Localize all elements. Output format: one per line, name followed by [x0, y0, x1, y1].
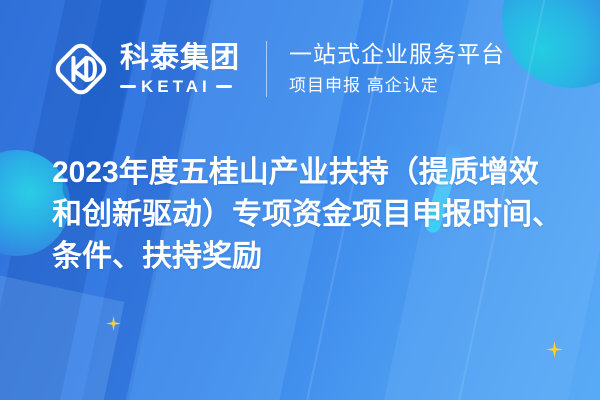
logo-rule-right [216, 85, 232, 88]
ketai-diamond-kd-logo-icon [52, 40, 110, 98]
banner-header: 科泰集团 KETAI 一站式企业服务平台 项目申报 高企认定 [0, 0, 600, 138]
header-divider [266, 41, 267, 97]
logo-wordmark: 科泰集团 KETAI [120, 43, 240, 94]
four-point-star-sparkle-icon-left [106, 316, 121, 331]
slogan-secondary: 项目申报 高企认定 [289, 74, 505, 99]
banner-title-block: 2023年度五桂山产业扶持（提质增效和创新驱动）专项资金项目申报时间、条件、扶持… [52, 152, 568, 278]
brand-lockup: 科泰集团 KETAI [52, 40, 240, 98]
header-slogan: 一站式企业服务平台 项目申报 高企认定 [289, 40, 505, 99]
logo-company-name-en: KETAI [141, 78, 211, 95]
page-title: 2023年度五桂山产业扶持（提质增效和创新驱动）专项资金项目申报时间、条件、扶持… [52, 152, 568, 278]
logo-rule-left [120, 85, 136, 88]
logo-company-name-cn: 科泰集团 [120, 43, 240, 74]
logo-english-row: KETAI [120, 78, 240, 95]
slogan-primary: 一站式企业服务平台 [289, 40, 505, 70]
promo-banner: 科泰集团 KETAI 一站式企业服务平台 项目申报 高企认定 2023年度五桂山… [0, 0, 600, 400]
four-point-star-sparkle-icon-right [546, 341, 563, 358]
